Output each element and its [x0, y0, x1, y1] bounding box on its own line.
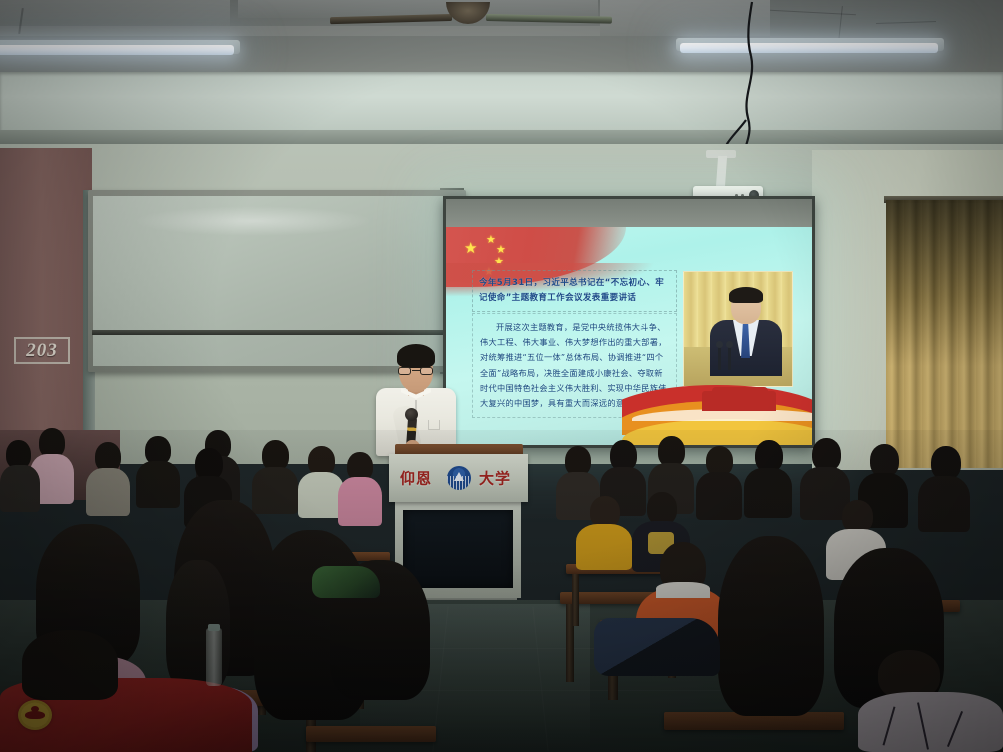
room-number-plate: 203: [14, 337, 70, 364]
emblem-rays: [447, 476, 471, 490]
slide-title-textbox: 今年5月31日，习近平总书记在“不忘初心、牢记使命”主题教育工作会议发表重要讲话: [472, 270, 677, 312]
student-yellow-shirt: [576, 496, 632, 570]
student-back-7: [86, 442, 130, 516]
desk-row-l5: [306, 726, 436, 742]
flag-star-large: ★: [464, 241, 477, 256]
presentation-slide: ★ ★ ★ ★ ★ 今年5月31日，习近平总书记在“不忘初心、牢记使命”主题教育…: [446, 227, 812, 445]
student-torso: [696, 472, 742, 520]
classroom-photo: 203 ★ ★ ★ ★ ★: [0, 0, 1003, 752]
lectern-brand-right: 大学: [479, 468, 511, 489]
student-head: [22, 630, 118, 700]
glasses-icon: [398, 367, 434, 375]
screen-top-border: [446, 199, 812, 227]
student-torso: [0, 465, 40, 512]
student-back-6: [136, 436, 180, 508]
slide-speaker-photo: [683, 271, 793, 387]
window-curtain-shading: [886, 200, 1003, 468]
tshirt-emblem-icon: [18, 700, 52, 730]
desk-leg-r2a: [572, 574, 579, 626]
student-back-5: [338, 452, 382, 526]
room-number-label: 203: [26, 340, 58, 362]
student-torso: [576, 524, 632, 570]
green-jacket-on-desk: [312, 566, 380, 598]
student-torso: [918, 476, 970, 532]
student-torso: [86, 468, 130, 516]
student-back-r5: [744, 440, 792, 518]
student-torso: [744, 468, 792, 518]
microphone-head-icon: [405, 408, 418, 421]
student-patterned-shirt: [858, 650, 1003, 752]
tiananmen-roof: [712, 387, 768, 395]
presenter-shirt-pocket: [428, 420, 440, 430]
student-back-9: [0, 440, 40, 512]
student-back-r8: [918, 446, 970, 532]
presenter-hair: [397, 344, 435, 368]
glasses-lens-left: [398, 367, 411, 375]
presenter: [368, 344, 462, 456]
university-emblem-icon: [447, 466, 471, 490]
glasses-bridge: [412, 370, 420, 371]
flag-star-2: ★: [496, 245, 506, 256]
student-collar: [656, 582, 710, 598]
whiteboard-glare: [133, 206, 373, 236]
student-hair: [718, 536, 824, 716]
lectern-brand-left: 仰恩: [400, 468, 432, 489]
student-torso: [858, 692, 1003, 752]
photo-hair: [729, 287, 763, 303]
whiteboard-marker-tray: [92, 330, 462, 335]
student-bag-on-desk: [594, 618, 720, 676]
photo-microphone-left: [718, 346, 721, 370]
backpack: [594, 618, 720, 676]
projection-screen: ★ ★ ★ ★ ★ 今年5月31日，习近平总书记在“不忘初心、牢记使命”主题教育…: [443, 196, 815, 448]
glasses-lens-right: [420, 367, 433, 375]
whiteboard-surface: [93, 196, 461, 366]
photo-microphone-right: [728, 346, 731, 370]
lectern-nameplate: 仰恩 大学: [389, 454, 528, 502]
student-back-r4: [696, 446, 742, 520]
flag-star-1: ★: [486, 235, 496, 246]
student-long-hair-center-right: [718, 536, 824, 716]
student-torso: [338, 477, 382, 526]
student-head: [931, 446, 961, 480]
water-bottle-cap: [208, 624, 220, 631]
water-bottle: [206, 628, 222, 686]
